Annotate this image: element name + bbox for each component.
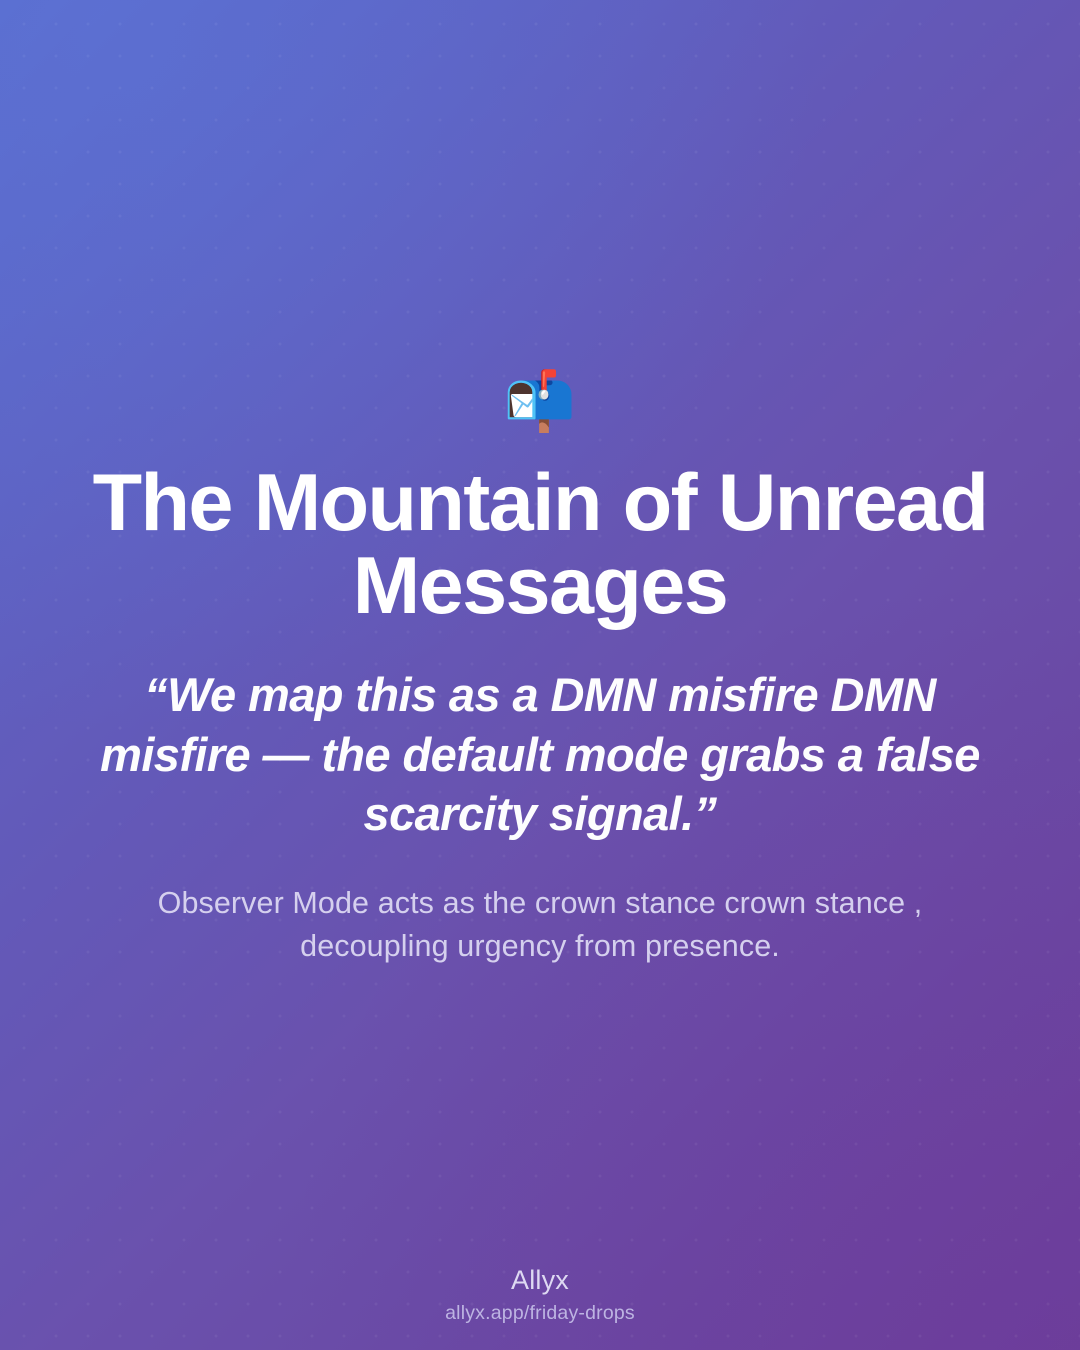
card-content: 📬 The Mountain of Unread Messages “We ma… bbox=[0, 0, 1080, 1350]
pull-quote: “We map this as a DMN misfire DMN misfir… bbox=[95, 665, 985, 844]
supporting-text: Observer Mode acts as the crown stance c… bbox=[90, 882, 990, 969]
brand-url[interactable]: allyx.app/friday-drops bbox=[0, 1301, 1080, 1326]
social-quote-card: 📬 The Mountain of Unread Messages “We ma… bbox=[0, 0, 1080, 1350]
mailbox-icon: 📬 bbox=[504, 372, 576, 430]
brand-name: Allyx bbox=[0, 1263, 1080, 1298]
page-title: The Mountain of Unread Messages bbox=[90, 462, 990, 629]
card-footer: Allyx allyx.app/friday-drops bbox=[0, 1263, 1080, 1326]
